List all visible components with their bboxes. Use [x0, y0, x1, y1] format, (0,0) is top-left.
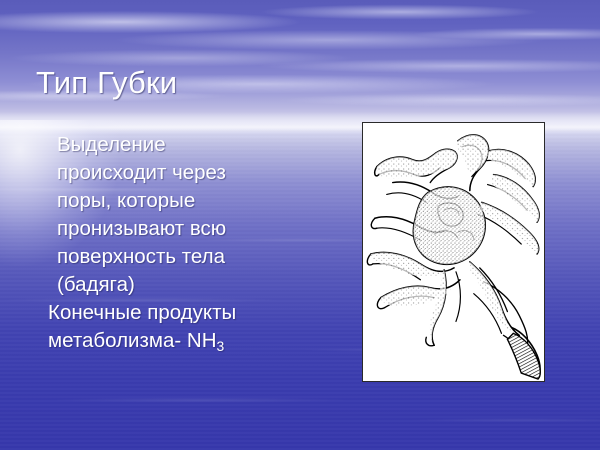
- sponge-drawing: [363, 123, 544, 381]
- sponge-illustration-panel: [362, 122, 545, 382]
- slide-title: Тип Губки: [36, 65, 177, 101]
- body-paragraph-excretion: Выделение происходит через поры, которые…: [57, 131, 307, 299]
- metabolism-text: Конечные продукты метаболизма- NH: [48, 301, 236, 352]
- body-paragraph-metabolism: Конечные продукты метаболизма- NH3: [48, 299, 313, 360]
- ammonia-subscript: 3: [217, 338, 225, 354]
- presentation-slide: Тип Губки Выделение происходит через пор…: [0, 0, 600, 450]
